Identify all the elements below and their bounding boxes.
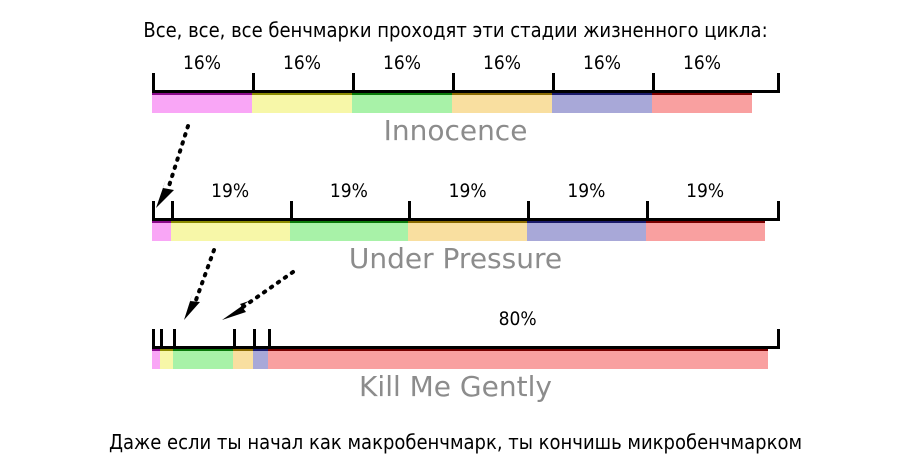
axis-tick-innocence-end — [777, 73, 780, 93]
segment-percent-label-under-pressure-6: 19% — [646, 180, 765, 202]
axis-tick-kill-me-gently-1 — [152, 329, 155, 349]
bar-segment-innocence-3 — [352, 93, 452, 113]
axis-tick-under-pressure-5 — [527, 201, 530, 221]
segment-percent-label-innocence-6: 16% — [652, 52, 752, 74]
bar-segment-innocence-1 — [152, 93, 252, 113]
axis-tick-innocence-2 — [252, 73, 255, 93]
stage-label-under-pressure: Under Pressure — [0, 242, 911, 275]
segment-percent-label-under-pressure-2: 19% — [171, 180, 290, 202]
bar-segment-innocence-5 — [552, 93, 652, 113]
bar-group-innocence: 16%16%16%16%16%16%Innocence — [0, 62, 911, 148]
axis-tick-kill-me-gently-4 — [233, 329, 236, 349]
axis-tick-innocence-5 — [552, 73, 555, 93]
bar-segment-under-pressure-6 — [646, 221, 765, 241]
infographic-canvas: Все, все, все бенчмарки проходят эти ста… — [0, 0, 911, 469]
axis-tick-kill-me-gently-end — [777, 329, 780, 349]
axis-tick-under-pressure-2 — [171, 201, 174, 221]
axis-tick-innocence-3 — [352, 73, 355, 93]
axis-tick-kill-me-gently-3 — [173, 329, 176, 349]
bar-group-under-pressure: 19%19%19%19%19%Under Pressure — [0, 190, 911, 276]
stage-label-kill-me-gently: Kill Me Gently — [0, 370, 911, 403]
segment-percent-label-innocence-2: 16% — [252, 52, 352, 74]
segment-percent-label-innocence-4: 16% — [452, 52, 552, 74]
bar-segment-innocence-2 — [252, 93, 352, 113]
segment-percent-label-under-pressure-3: 19% — [290, 180, 409, 202]
bar-segment-innocence-6 — [652, 93, 752, 113]
stage-label-innocence: Innocence — [0, 114, 911, 147]
axis-tick-kill-me-gently-2 — [160, 329, 163, 349]
axis-tick-under-pressure-1 — [152, 201, 155, 221]
segment-percent-label-under-pressure-5: 19% — [527, 180, 646, 202]
bar-group-kill-me-gently: 80%Kill Me Gently — [0, 318, 911, 404]
bar-segment-under-pressure-5 — [527, 221, 646, 241]
caption-text: Даже если ты начал как макробенчмарк, ты… — [0, 430, 911, 454]
segment-percent-label-innocence-5: 16% — [552, 52, 652, 74]
axis-tick-innocence-6 — [652, 73, 655, 93]
bar-segment-innocence-4 — [452, 93, 552, 113]
bar-segment-kill-me-gently-6 — [268, 349, 768, 369]
bar-segment-under-pressure-2 — [171, 221, 290, 241]
bar-segment-under-pressure-1 — [152, 221, 171, 241]
axis-tick-under-pressure-6 — [646, 201, 649, 221]
segment-percent-label-under-pressure-4: 19% — [408, 180, 527, 202]
bar-segment-kill-me-gently-2 — [160, 349, 173, 369]
headline-text: Все, все, все бенчмарки проходят эти ста… — [0, 18, 911, 42]
bar-segment-kill-me-gently-1 — [152, 349, 160, 369]
bar-segment-kill-me-gently-5 — [253, 349, 268, 369]
axis-tick-kill-me-gently-5 — [253, 329, 256, 349]
axis-tick-innocence-1 — [152, 73, 155, 93]
bar-segment-under-pressure-3 — [290, 221, 409, 241]
bar-segment-kill-me-gently-3 — [173, 349, 233, 369]
axis-tick-under-pressure-4 — [408, 201, 411, 221]
bar-segment-under-pressure-4 — [408, 221, 527, 241]
segment-percent-label-innocence-3: 16% — [352, 52, 452, 74]
segment-percent-label-innocence-1: 16% — [152, 52, 252, 74]
axis-tick-under-pressure-3 — [290, 201, 293, 221]
bar-segment-kill-me-gently-4 — [233, 349, 253, 369]
segment-percent-label-kill-me-gently-6: 80% — [268, 308, 768, 330]
axis-tick-under-pressure-end — [777, 201, 780, 221]
axis-tick-kill-me-gently-6 — [268, 329, 271, 349]
axis-tick-innocence-4 — [452, 73, 455, 93]
